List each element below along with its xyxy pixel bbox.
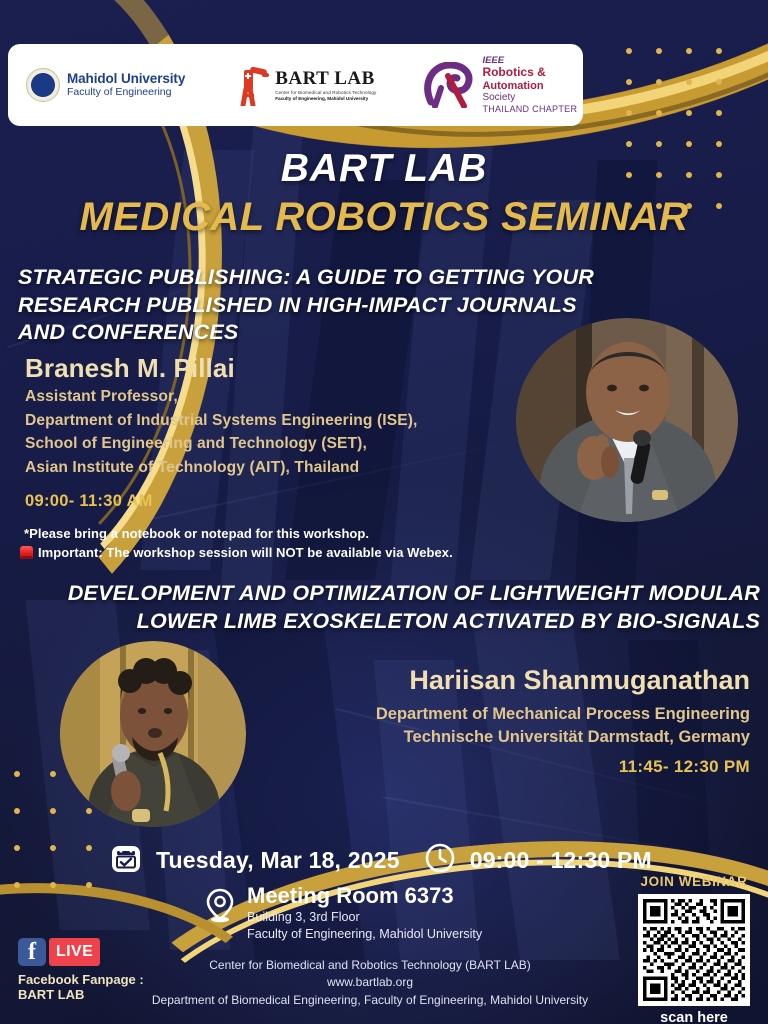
speaker-2-photo	[60, 641, 246, 827]
siren-alert-icon	[20, 546, 33, 559]
venue-building: Building 3, 3rd Floor	[247, 909, 482, 926]
workshop-note-notebook: *Please bring a notebook or notepad for …	[24, 526, 369, 541]
bart-lab-sub1: Center for Biomedical and Robotics Techn…	[275, 90, 376, 95]
title-line-1: BART LAB	[0, 148, 768, 191]
talk-1-affiliation: Assistant Professor, Department of Indus…	[25, 385, 525, 480]
footer-org: Center for Biomedical and Robotics Techn…	[110, 957, 630, 974]
facebook-live-block[interactable]: f LIVE Facebook Fanpage : BART LAB	[18, 938, 144, 1002]
ras-robotics-label: Robotics &	[482, 66, 577, 79]
talk-2-time: 11:45- 12:30 PM	[400, 757, 750, 777]
poster-title: BART LAB MEDICAL ROBOTICS SEMINAR	[0, 148, 768, 239]
venue-name: Meeting Room 6373	[247, 883, 454, 908]
talk-1-speaker-name: Branesh M. Pillai	[25, 353, 235, 384]
talk-1-title: STRATEGIC PUBLISHING: A GUIDE TO GETTING…	[18, 264, 618, 347]
talk-1-time: 09:00- 11:30 AM	[25, 492, 153, 511]
event-date: Tuesday, Mar 18, 2025	[156, 847, 400, 874]
mahidol-university-logo: Mahidol University Faculty of Engineerin…	[8, 68, 185, 102]
mahidol-name: Mahidol University	[67, 71, 185, 87]
live-badge: LIVE	[49, 938, 100, 966]
footer-website[interactable]: www.bartlab.org	[110, 974, 630, 991]
bart-lab-sub2: Faculty of Engineering, Mahidol Universi…	[275, 96, 376, 101]
mahidol-seal-icon	[26, 68, 60, 102]
workshop-note-webex-text: Important: The workshop session will NOT…	[38, 545, 453, 560]
ras-chapter-label: THAILAND CHAPTER	[482, 104, 577, 114]
facebook-fanpage-name: BART LAB	[18, 987, 144, 1002]
speaker-1-photo	[516, 318, 738, 522]
robot-arm-icon	[240, 64, 270, 106]
scan-here-label: scan here	[630, 1010, 758, 1024]
calendar-icon	[110, 842, 142, 879]
event-datetime-row: Tuesday, Mar 18, 2025 09:00 - 12:30 PM	[110, 842, 652, 879]
ras-swirl-icon	[424, 62, 476, 108]
talk-2-affiliation: Department of Mechanical Process Enginee…	[230, 703, 750, 750]
join-webinar-label: JOIN WEBINAR	[630, 874, 758, 889]
title-line-2: MEDICAL ROBOTICS SEMINAR	[0, 195, 768, 239]
footer-department: Department of Biomedical Engineering, Fa…	[110, 992, 630, 1009]
location-pin-icon	[205, 887, 235, 928]
seminar-poster: Mahidol University Faculty of Engineerin…	[0, 0, 768, 1024]
workshop-note-webex: Important: The workshop session will NOT…	[20, 545, 453, 560]
facebook-fanpage-label: Facebook Fanpage :	[18, 972, 144, 987]
event-venue-row: Meeting Room 6373 Building 3, 3rd Floor …	[205, 884, 482, 943]
ras-automation-label: Automation	[482, 80, 577, 92]
qr-code-image[interactable]	[638, 894, 750, 1006]
clock-icon	[424, 842, 456, 879]
mahidol-faculty: Faculty of Engineering	[67, 86, 185, 99]
ieee-ras-logo: IEEE Robotics & Automation Society THAIL…	[424, 56, 577, 115]
talk-2-title: DEVELOPMENT AND OPTIMIZATION OF LIGHTWEI…	[60, 580, 760, 636]
bart-lab-logo: BART LAB Center for Biomedical and Robot…	[240, 64, 376, 106]
bart-lab-name: BART LAB	[275, 69, 376, 88]
venue-faculty: Faculty of Engineering, Mahidol Universi…	[247, 926, 482, 943]
facebook-icon[interactable]: f	[18, 938, 46, 966]
ras-society-label: Society	[482, 92, 577, 104]
partner-logo-bar: Mahidol University Faculty of Engineerin…	[8, 44, 583, 126]
event-time: 09:00 - 12:30 PM	[470, 847, 652, 874]
webinar-qr-block[interactable]: JOIN WEBINAR	[630, 874, 758, 1024]
poster-footer: Center for Biomedical and Robotics Techn…	[110, 957, 630, 1009]
talk-2-speaker-name: Hariisan Shanmuganathan	[260, 665, 750, 696]
